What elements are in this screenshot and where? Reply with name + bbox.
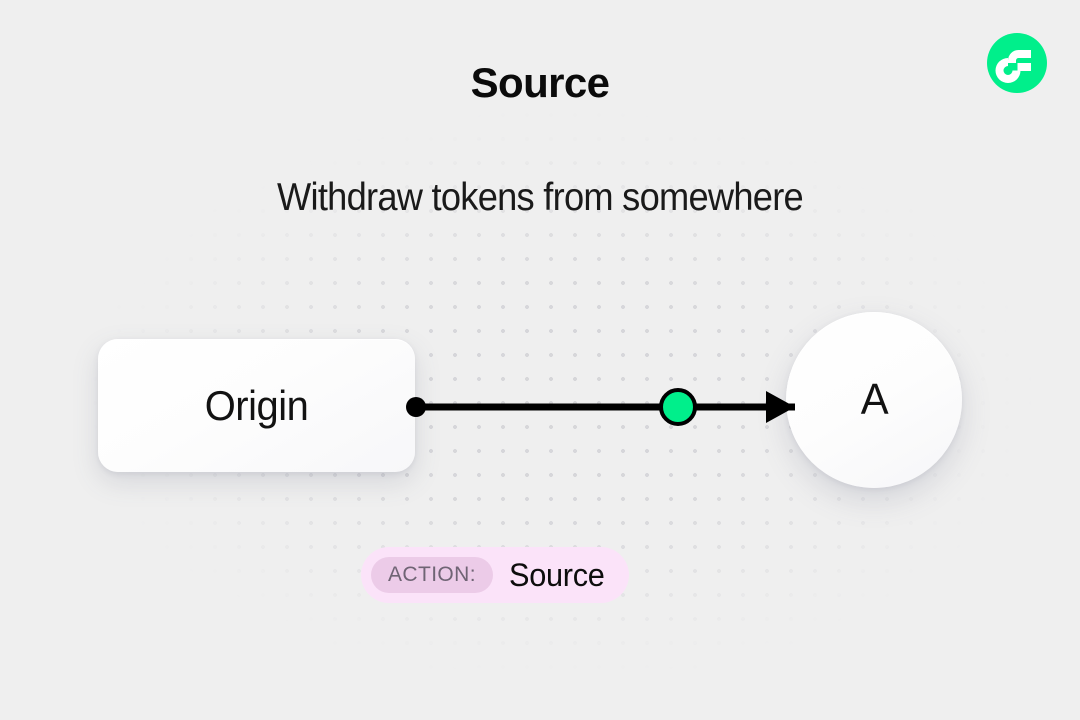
edge-token-marker[interactable] — [661, 390, 695, 424]
node-origin-label: Origin — [205, 382, 309, 430]
node-a-label: A — [860, 375, 887, 425]
node-origin[interactable]: Origin — [98, 339, 415, 472]
page-title: Source — [0, 62, 1080, 104]
action-badge[interactable]: ACTION: Source — [361, 547, 629, 603]
flow-logo-svg — [987, 33, 1047, 93]
page-subtitle: Withdraw tokens from somewhere — [38, 178, 1042, 217]
flow-logo-icon[interactable] — [987, 33, 1047, 93]
action-badge-key: ACTION: — [371, 557, 493, 593]
diagram-canvas: Source Withdraw tokens from somewhere Or… — [0, 0, 1080, 720]
action-badge-value: Source — [509, 559, 605, 591]
node-a[interactable]: A — [786, 312, 962, 488]
